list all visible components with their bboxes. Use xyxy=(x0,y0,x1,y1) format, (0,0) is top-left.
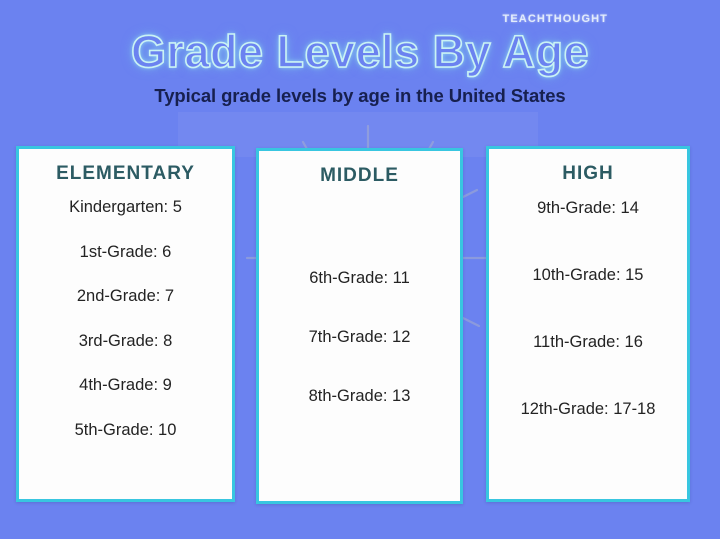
list-item: 3rd-Grade: 8 xyxy=(19,332,232,351)
list-item: 7th-Grade: 12 xyxy=(259,328,460,347)
list-item: 1st-Grade: 6 xyxy=(19,243,232,262)
grade-list-elementary: Kindergarten: 5 1st-Grade: 6 2nd-Grade: … xyxy=(19,198,232,440)
list-item: 9th-Grade: 14 xyxy=(489,199,687,218)
card-elementary: ELEMENTARY Kindergarten: 5 1st-Grade: 6 … xyxy=(16,146,235,502)
list-item: Kindergarten: 5 xyxy=(19,198,232,217)
list-item: 11th-Grade: 16 xyxy=(489,333,687,352)
list-item: 2nd-Grade: 7 xyxy=(19,287,232,306)
list-item: 12th-Grade: 17-18 xyxy=(489,400,687,419)
page-title: Grade Levels By Age xyxy=(0,26,720,78)
list-item: 6th-Grade: 11 xyxy=(259,269,460,288)
card-high: HIGH 9th-Grade: 14 10th-Grade: 15 11th-G… xyxy=(486,146,690,502)
card-heading-high: HIGH xyxy=(489,163,687,185)
list-item: 8th-Grade: 13 xyxy=(259,387,460,406)
list-item: 10th-Grade: 15 xyxy=(489,266,687,285)
teachthought-logo: TEACHTHOUGHT xyxy=(503,13,608,25)
grade-list-middle: 6th-Grade: 11 7th-Grade: 12 8th-Grade: 1… xyxy=(259,269,460,406)
card-middle: MIDDLE 6th-Grade: 11 7th-Grade: 12 8th-G… xyxy=(256,148,463,504)
grade-list-high: 9th-Grade: 14 10th-Grade: 15 11th-Grade:… xyxy=(489,199,687,419)
list-item: 5th-Grade: 10 xyxy=(19,421,232,440)
list-item: 4th-Grade: 9 xyxy=(19,376,232,395)
card-heading-elementary: ELEMENTARY xyxy=(19,163,232,185)
card-heading-middle: MIDDLE xyxy=(259,165,460,187)
page-subtitle: Typical grade levels by age in the Unite… xyxy=(0,85,720,107)
